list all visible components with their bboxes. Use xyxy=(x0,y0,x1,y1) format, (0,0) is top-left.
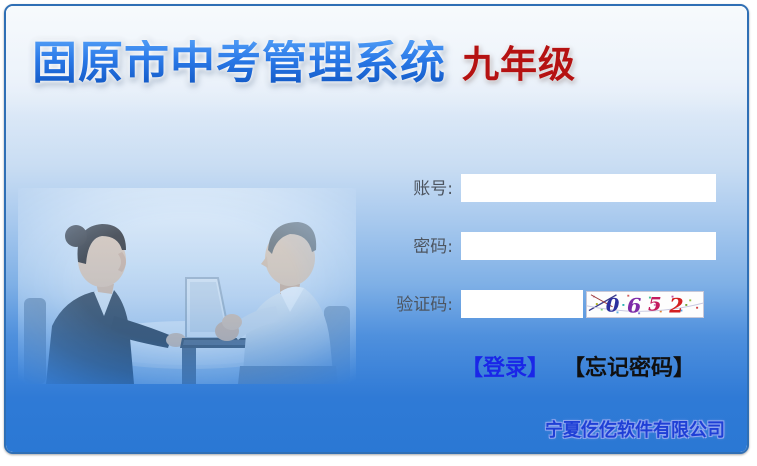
login-button[interactable]: 【登录】 xyxy=(461,350,549,382)
window-background: 固原市中考管理系统 九年级 xyxy=(6,6,747,452)
password-label: 密码: xyxy=(361,232,453,257)
forgot-password-link[interactable]: 【忘记密码】 xyxy=(563,350,695,382)
account-input[interactable] xyxy=(461,174,716,202)
captcha-char-0: 0 xyxy=(606,294,620,316)
captcha-char-3: 2 xyxy=(668,294,683,317)
page-title-grade-badge: 九年级 xyxy=(462,46,576,83)
account-label: 账号: xyxy=(361,174,453,199)
captcha-label: 验证码: xyxy=(361,290,453,315)
captcha-row: 验证码: xyxy=(361,284,721,342)
captcha-input[interactable] xyxy=(461,290,583,318)
password-row: 密码: xyxy=(361,226,721,284)
password-input[interactable] xyxy=(461,232,716,260)
captcha-char-1: 6 xyxy=(627,294,641,317)
page-title-main: 固原市中考管理系统 xyxy=(32,40,446,85)
page-title: 固原市中考管理系统 九年级 xyxy=(32,40,576,85)
meeting-photo xyxy=(18,188,356,384)
action-links: 【登录】 【忘记密码】 xyxy=(461,350,695,382)
account-row: 账号: xyxy=(361,168,721,226)
captcha-graphic: 0 6 5 2 xyxy=(587,292,703,317)
login-form: 账号: 密码: 验证码: xyxy=(361,168,721,342)
login-window: 固原市中考管理系统 九年级 xyxy=(4,4,749,454)
captcha-image[interactable]: 0 6 5 2 xyxy=(586,291,704,318)
captcha-char-2: 5 xyxy=(648,293,662,315)
meeting-photo-graphic xyxy=(18,188,356,384)
footer-company-name: 宁夏仡仡软件有限公司 xyxy=(6,416,725,442)
